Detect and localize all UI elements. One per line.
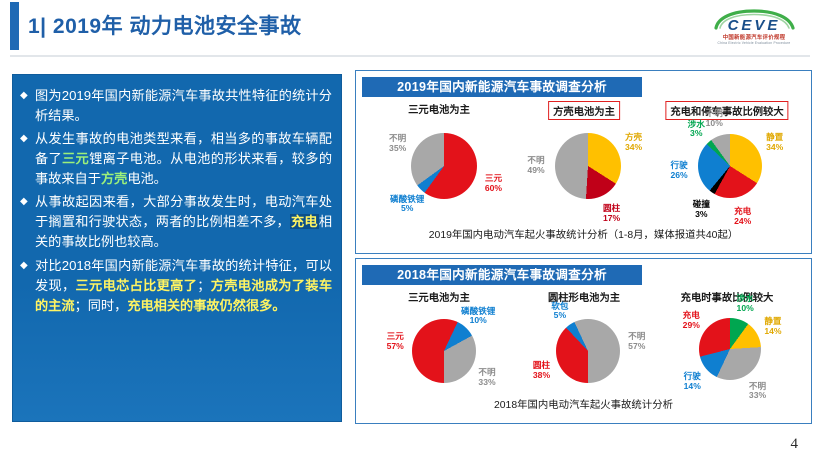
- pie-label-value: 35%: [389, 143, 406, 153]
- pie-label-value: 34%: [625, 142, 642, 152]
- pie-chart-pie-2019-battery-type: [411, 133, 477, 199]
- pie-chart-pie-2019-battery-shape: [555, 133, 621, 199]
- panel-2018-analysis: 2018年国内新能源汽车事故调查分析 三元电池为主圆柱形电池为主充电时事故比例较…: [355, 258, 812, 424]
- pie-label-value: 5%: [554, 310, 566, 320]
- pie-slice-label: 方壳34%: [625, 133, 642, 152]
- bullet-item: ◆图为2019年国内新能源汽车事故共性特征的统计分析结果。: [20, 86, 332, 126]
- pie-slice-label: 磷酸铁锂10%: [461, 307, 495, 326]
- bullet-list: ◆图为2019年国内新能源汽车事故共性特征的统计分析结果。◆从发生事故的电池类型…: [12, 74, 342, 316]
- chart-subtitle: 三元电池为主: [408, 101, 470, 116]
- pie-label-name: 磷酸铁锂: [461, 306, 495, 316]
- pie-label-name: 静置: [766, 132, 783, 142]
- bullet-text-segment: ；: [197, 278, 210, 293]
- pie-slices: [412, 319, 476, 383]
- bullet-text-segment: 充电相关的事故仍然很多。: [127, 298, 285, 313]
- panel-2019-analysis: 2019年国内新能源汽车事故调查分析 三元电池为主方壳电池为主充电和停车事故比例…: [355, 70, 812, 254]
- panel-2019-caption: 2019年国内电动汽车起火事故统计分析（1-8月，媒体报道共40起）: [356, 226, 811, 241]
- pie-label-name: 行驶: [684, 371, 701, 381]
- bullet-text-segment: ；同时，: [75, 298, 128, 313]
- diamond-bullet-icon: ◆: [20, 194, 28, 209]
- pie-slice-label: 不明49%: [527, 156, 544, 175]
- pie-slice-label: 静置14%: [764, 317, 781, 336]
- pie-label-value: 14%: [684, 381, 701, 391]
- pie-slices: [411, 133, 477, 199]
- pie-label-value: 49%: [527, 165, 544, 175]
- chart-subtitle: 充电和停车事故比例较大: [665, 101, 788, 120]
- pie-label-name: 不明: [706, 108, 723, 118]
- diamond-bullet-icon: ◆: [20, 258, 28, 273]
- pie-label-name: 磷酸铁锂: [390, 194, 424, 204]
- pie-label-name: 涉水: [737, 293, 754, 303]
- bullet-text-segment: 图为2019年国内新能源汽车事故共性特征的统计分析结果。: [35, 88, 332, 123]
- pie-label-name: 软包: [551, 301, 568, 311]
- pie-label-name: 涉水: [688, 119, 705, 129]
- pie-label-name: 不明: [527, 155, 544, 165]
- pie-slice-label: 三元57%: [387, 332, 404, 351]
- pie-label-value: 57%: [387, 341, 404, 351]
- pie-label-value: 57%: [628, 341, 645, 351]
- logo-english-name: China Electric Vehicle Evaluation Proced…: [706, 41, 802, 45]
- pie-chart-pie-2018-battery-shape: [556, 319, 620, 383]
- bullet-text-segment: 电池。: [127, 171, 167, 186]
- pie-label-value: 33%: [478, 377, 495, 387]
- bullet-item: ◆从发生事故的电池类型来看，相当多的事故车辆配备了三元锂离子电池。从电池的形状来…: [20, 129, 332, 189]
- pie-slices: [555, 133, 621, 199]
- bullet-item: ◆对比2018年国内新能源汽车事故的统计特征，可以发现，三元电芯占比更高了；方壳…: [20, 256, 332, 316]
- pie-slice-label: 涉水3%: [688, 120, 705, 139]
- pie-label-value: 3%: [695, 209, 707, 219]
- bullet-text-segment: 三元: [62, 151, 89, 166]
- pie-slice-label: 碰撞3%: [693, 200, 710, 219]
- pie-slice-label: 圆柱38%: [533, 361, 550, 380]
- pie-label-name: 圆柱: [533, 360, 550, 370]
- pie-label-value: 29%: [683, 320, 700, 330]
- pie-label-name: 圆柱: [603, 203, 620, 213]
- page-title: 1| 2019年 动力电池安全事故: [28, 10, 301, 40]
- chart-subtitle: 三元电池为主: [408, 289, 470, 304]
- pie-label-name: 静置: [764, 316, 781, 326]
- pie-label-name: 不明: [478, 367, 495, 377]
- panel-2019-subtitles: 三元电池为主方壳电池为主充电和停车事故比例较大: [356, 101, 811, 117]
- pie-chart-pie-2019-accident-state: [698, 134, 762, 198]
- pie-chart-pie-2018-battery-type: [412, 319, 476, 383]
- pie-slice-label: 行驶26%: [670, 161, 687, 180]
- pie-slice-label: 不明35%: [389, 134, 406, 153]
- pie-label-name: 不明: [749, 381, 766, 391]
- pie-slice-label: 圆柱17%: [603, 204, 620, 223]
- pie-label-value: 34%: [766, 142, 783, 152]
- bullet-item: ◆从事故起因来看，大部分事故发生时，电动汽车处于搁置和行驶状态，两者的比例相差不…: [20, 192, 332, 252]
- summary-text-panel: ◆图为2019年国内新能源汽车事故共性特征的统计分析结果。◆从发生事故的电池类型…: [12, 74, 342, 422]
- pie-label-value: 5%: [401, 203, 413, 213]
- header-divider: [10, 55, 810, 57]
- pie-label-name: 碰撞: [693, 199, 710, 209]
- header-accent-bar: [10, 2, 19, 50]
- pie-label-name: 三元: [387, 331, 404, 341]
- bullet-text-segment: 三元电芯占比更高了: [76, 278, 198, 293]
- pie-slice-label: 静置34%: [766, 133, 783, 152]
- pie-slice-label: 软包5%: [551, 302, 568, 321]
- panel-2018-title: 2018年国内新能源汽车事故调查分析: [362, 265, 642, 285]
- pie-slice-label: 三元60%: [485, 174, 502, 193]
- pie-label-name: 不明: [628, 331, 645, 341]
- pie-slice-label: 不明10%: [706, 109, 723, 128]
- pie-label-value: 17%: [603, 213, 620, 223]
- pie-label-value: 10%: [470, 315, 487, 325]
- pie-slices: [556, 319, 620, 383]
- pie-label-name: 三元: [485, 173, 502, 183]
- bullet-text-segment: 方壳: [101, 171, 127, 186]
- pie-label-name: 方壳: [625, 132, 642, 142]
- pie-slices: [699, 318, 761, 380]
- pie-label-name: 行驶: [670, 160, 687, 170]
- pie-label-value: 3%: [690, 128, 702, 138]
- panel-2018-caption: 2018年国内电动汽车起火事故统计分析: [356, 396, 811, 411]
- pie-label-name: 充电: [734, 206, 751, 216]
- pie-slice-label: 不明57%: [628, 332, 645, 351]
- pie-slice-label: 不明33%: [478, 368, 495, 387]
- pie-label-value: 14%: [764, 326, 781, 336]
- svg-text:CEVE: CEVE: [728, 17, 781, 34]
- pie-label-value: 60%: [485, 183, 502, 193]
- chart-subtitle: 方壳电池为主: [548, 101, 620, 120]
- bullet-text-segment: 充电: [290, 214, 319, 229]
- slide-header: 1| 2019年 动力电池安全事故 CEVE 中国新能源汽车评价规程 China…: [0, 0, 820, 56]
- pie-slice-label: 行驶14%: [684, 372, 701, 391]
- pie-label-value: 10%: [706, 118, 723, 128]
- pie-slices: [698, 134, 762, 198]
- pie-label-value: 38%: [533, 370, 550, 380]
- diamond-bullet-icon: ◆: [20, 88, 28, 103]
- pie-label-value: 10%: [737, 303, 754, 313]
- ceve-logo-mark: CEVE: [706, 6, 802, 36]
- bullet-text-segment: 从事故起因来看，大部分事故发生时，电动汽车处于搁置和行驶状态，两者的比例相差不多…: [35, 194, 332, 229]
- pie-label-value: 24%: [734, 216, 751, 226]
- pie-label-value: 26%: [670, 170, 687, 180]
- pie-slice-label: 磷酸铁锂5%: [390, 195, 424, 214]
- logo-chinese-name: 中国新能源汽车评价规程: [706, 33, 802, 41]
- pie-slice-label: 充电29%: [683, 311, 700, 330]
- pie-chart-pie-2018-accident-state: [699, 318, 761, 380]
- panel-2019-title: 2019年国内新能源汽车事故调查分析: [362, 77, 642, 97]
- pie-label-name: 充电: [683, 310, 700, 320]
- chart-subtitle: 充电时事故比例较大: [681, 289, 774, 304]
- pie-slice-label: 涉水10%: [737, 294, 754, 313]
- pie-label-name: 不明: [389, 133, 406, 143]
- diamond-bullet-icon: ◆: [20, 131, 28, 146]
- page-number: 4: [791, 436, 799, 453]
- ceve-logo: CEVE 中国新能源汽车评价规程 China Electric Vehicle …: [706, 6, 802, 50]
- pie-slice-label: 充电24%: [734, 207, 751, 226]
